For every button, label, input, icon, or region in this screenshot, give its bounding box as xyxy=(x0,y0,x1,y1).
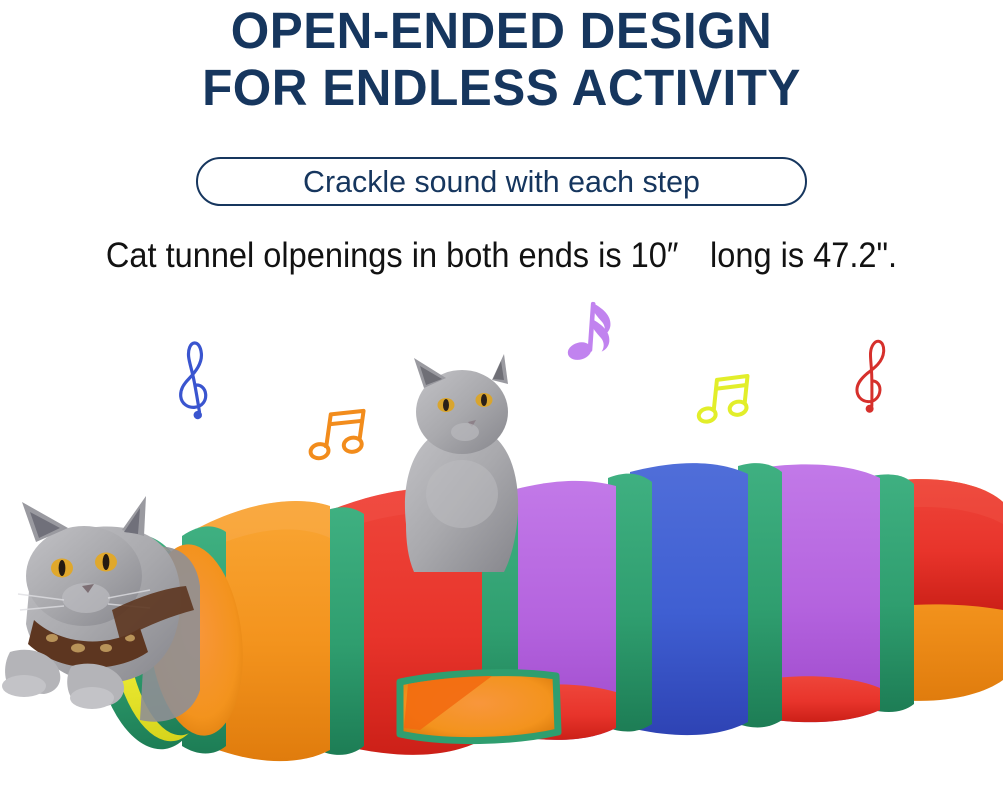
spec-part-2: long is 47.2". xyxy=(710,236,897,275)
product-photo-scene xyxy=(0,280,1003,800)
spec-part-1: Cat tunnel olpenings in both ends is 10″ xyxy=(106,236,679,275)
subtitle-text: Crackle sound with each step xyxy=(303,165,700,198)
cat-tunnel xyxy=(80,463,1003,761)
headline-line-2: FOR ENDLESS ACTIVITY xyxy=(15,59,988,116)
subtitle-pill: Crackle sound with each step xyxy=(196,157,807,206)
product-banner: OPEN-ENDED DESIGN FOR ENDLESS ACTIVITY C… xyxy=(0,0,1003,800)
headline-line-1: OPEN-ENDED DESIGN xyxy=(15,2,988,59)
cat-in-tunnel xyxy=(2,496,200,722)
page-title: OPEN-ENDED DESIGN FOR ENDLESS ACTIVITY xyxy=(15,2,988,116)
peek-hole xyxy=(400,673,558,741)
cat-on-tunnel xyxy=(405,354,518,572)
spec-text: Cat tunnel olpenings in both ends is 10″… xyxy=(35,233,968,278)
